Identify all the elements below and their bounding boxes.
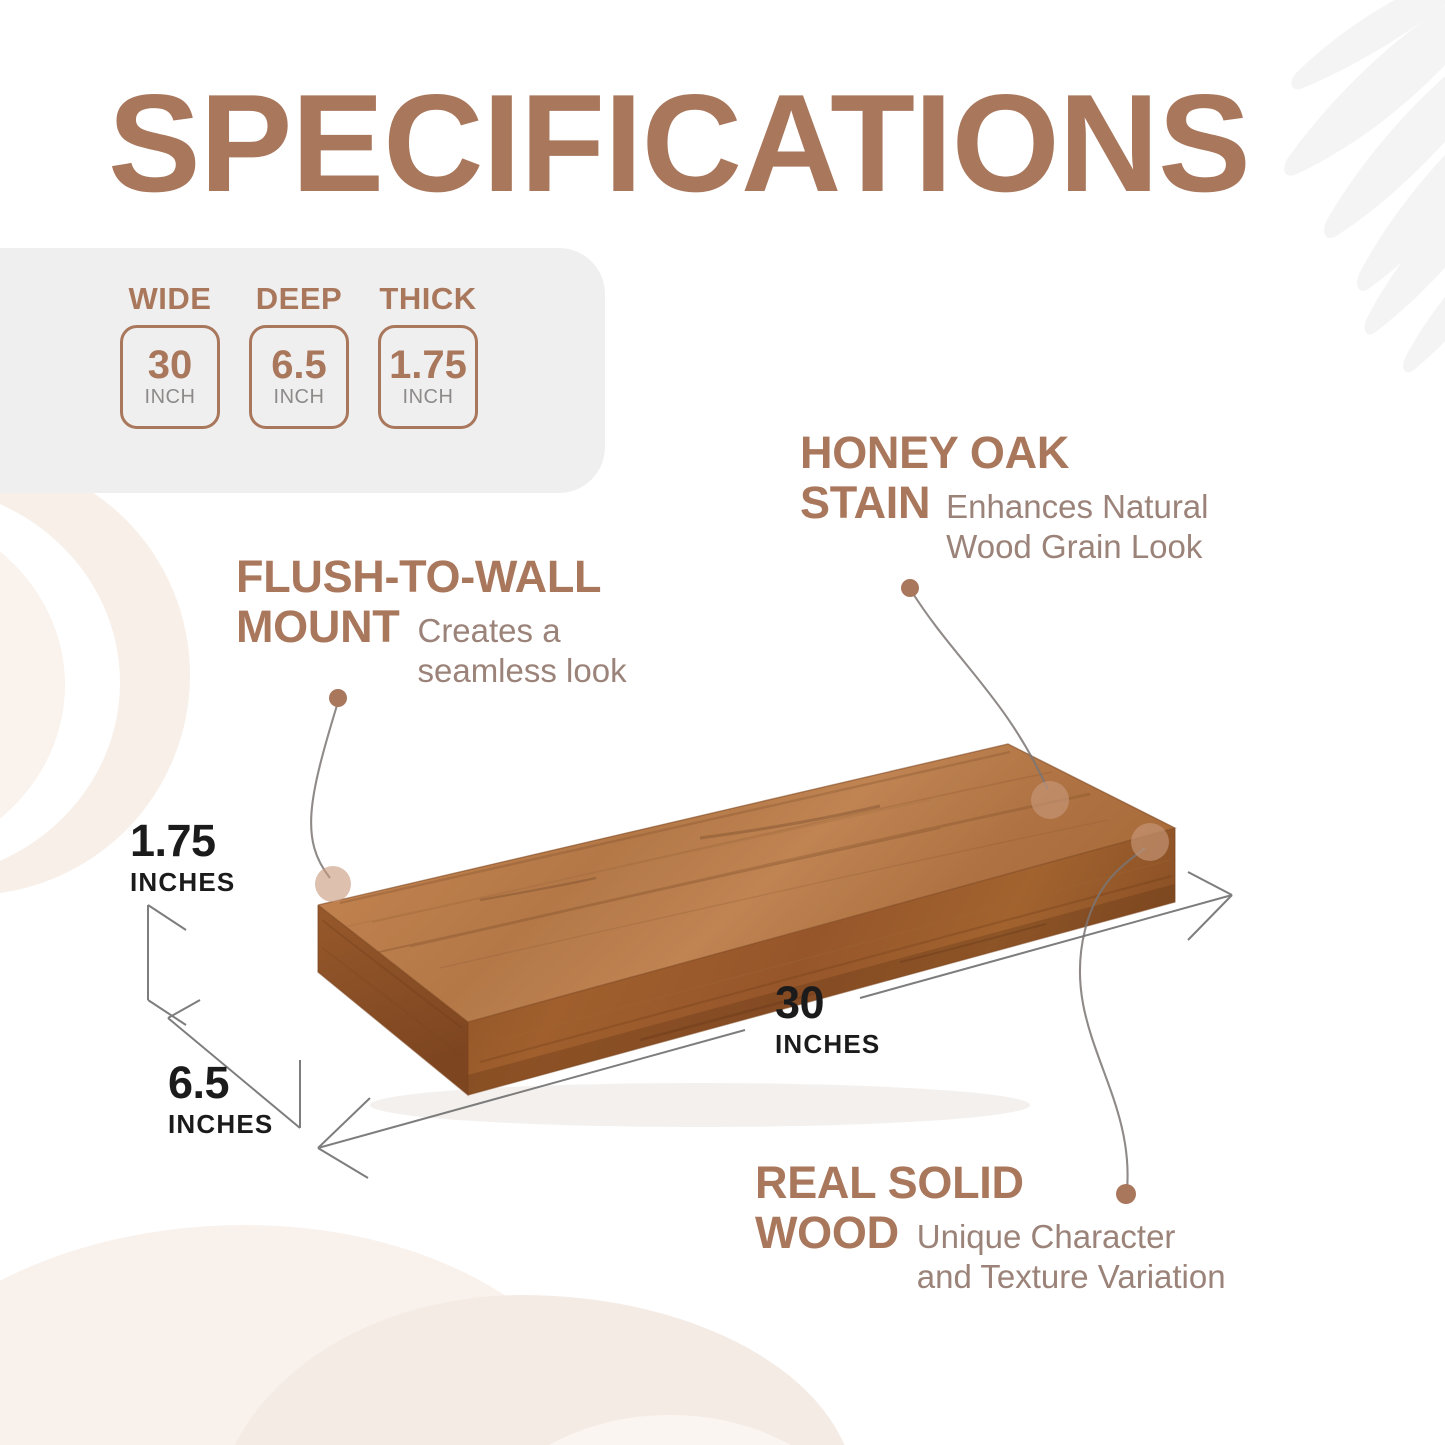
callout-heading-line1: HONEY OAK (800, 428, 1360, 478)
spec-chip-label: WIDE (120, 281, 220, 317)
callout-honey-oak-stain: HONEY OAK STAIN Enhances Natural Wood Gr… (800, 428, 1360, 567)
specifications-infographic: SPECIFICATIONS WIDE 30 INCH DEEP 6.5 INC… (0, 0, 1445, 1445)
cream-blob-left (0, 1225, 610, 1445)
spec-chip-box: 30 INCH (120, 325, 220, 429)
dimension-label-depth: 6.5 INCHES (168, 1060, 273, 1140)
spec-chip-deep: DEEP 6.5 INCH (249, 281, 349, 429)
spec-chip-wide: WIDE 30 INCH (120, 281, 220, 429)
callout-heading-line2: MOUNT (236, 602, 399, 652)
dimension-unit: INCHES (168, 1109, 273, 1140)
callout-description: Unique Character and Texture Variation (917, 1217, 1226, 1296)
spec-chip-box: 6.5 INCH (249, 325, 349, 429)
leader-anchor-honey (1031, 781, 1069, 819)
callout-heading-line2: WOOD (755, 1208, 899, 1258)
dimension-unit: INCHES (775, 1029, 880, 1060)
callout-heading-line2: STAIN (800, 478, 930, 528)
leader-line-flush-to-wall (311, 689, 351, 902)
dimension-value: 6.5 (168, 1060, 273, 1105)
dimension-value: 1.75 (130, 818, 235, 863)
cream-arc-middle (0, 485, 120, 880)
shelf-top-face (318, 744, 1175, 1022)
shelf-left-end-face (318, 905, 468, 1095)
spec-chip-label: THICK (378, 281, 478, 317)
leader-anchor-flush (315, 866, 351, 902)
spec-chip-thick: THICK 1.75 INCH (378, 281, 478, 429)
leader-line-real-solid-wood (1080, 823, 1169, 1204)
callout-heading-line1: FLUSH-TO-WALL (236, 552, 756, 602)
spec-chip-value: 1.75 (389, 346, 467, 384)
dimension-unit: INCHES (130, 867, 235, 898)
dimension-label-thickness: 1.75 INCHES (130, 818, 235, 898)
callout-flush-to-wall-mount: FLUSH-TO-WALL MOUNT Creates a seamless l… (236, 552, 756, 691)
dimension-value: 30 (775, 980, 880, 1025)
spec-chip-unit: INCH (403, 386, 454, 409)
spec-summary-panel: WIDE 30 INCH DEEP 6.5 INCH THICK 1.75 IN… (0, 248, 605, 493)
cream-arc-inner (0, 505, 65, 865)
dimension-label-width: 30 INCHES (775, 980, 880, 1060)
leader-anchor-wood (1131, 823, 1169, 861)
spec-chip-unit: INCH (274, 386, 325, 409)
spec-chip-value: 6.5 (271, 346, 327, 384)
spec-chip-value: 30 (148, 346, 193, 384)
callout-real-solid-wood: REAL SOLID WOOD Unique Character and Tex… (755, 1158, 1365, 1297)
cream-blob-center (215, 1295, 855, 1445)
spec-chip-label: DEEP (249, 281, 349, 317)
leader-dot-flush (329, 689, 347, 707)
spec-chip-box: 1.75 INCH (378, 325, 478, 429)
callout-heading-line1: REAL SOLID (755, 1158, 1365, 1208)
page-title: SPECIFICATIONS (108, 74, 1250, 213)
spec-chip-list: WIDE 30 INCH DEEP 6.5 INCH THICK 1.75 IN… (120, 281, 478, 429)
callout-description: Enhances Natural Wood Grain Look (946, 487, 1208, 566)
callout-description: Creates a seamless look (417, 611, 626, 690)
leader-dot-honey (901, 579, 919, 597)
dimension-line-thickness (148, 905, 186, 1025)
leader-line-honey-oak (901, 579, 1069, 819)
cream-blob-small (460, 1415, 880, 1445)
spec-chip-unit: INCH (145, 386, 196, 409)
